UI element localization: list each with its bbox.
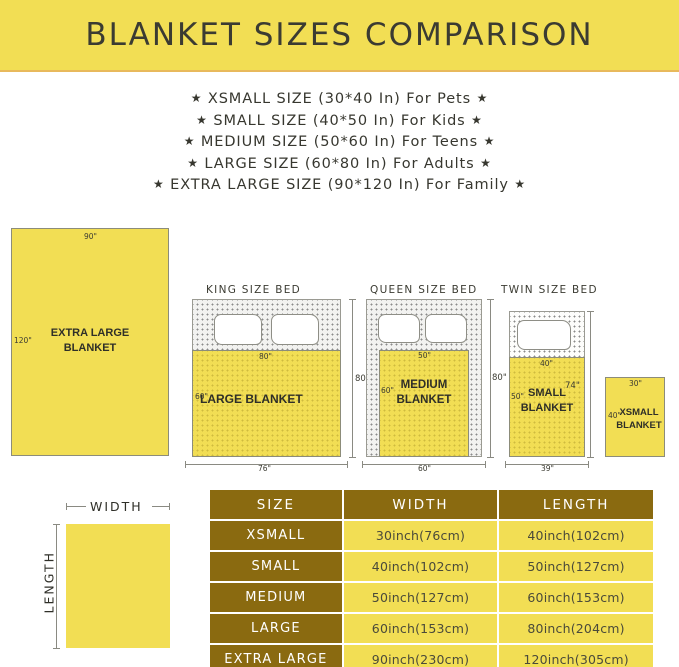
- twin-bed-width-dim: 39": [541, 464, 554, 473]
- star-icon: ★: [187, 156, 199, 170]
- xsmall-label-line1: XSMALL: [611, 406, 667, 419]
- queen-height-tick-top: [487, 299, 494, 300]
- infographic-root: BLANKET SIZES COMPARISON ★ XSMALL SIZE (…: [0, 0, 679, 667]
- queen-blanket-width-dim: 50": [418, 351, 431, 360]
- queen-bed-width-dim: 60": [418, 464, 431, 473]
- cell-length: 40inch(102cm): [499, 521, 653, 550]
- king-bed-title: KING SIZE BED: [206, 284, 301, 296]
- cell-width: 30inch(76cm): [344, 521, 497, 550]
- twin-height-tick-top: [587, 311, 594, 312]
- table-row: EXTRA LARGE 90inch(230cm) 120inch(305cm): [210, 645, 653, 667]
- queen-bed-height-dim: 80": [492, 373, 507, 383]
- bullet-item-xsmall: ★ XSMALL SIZE (30*40 In) For Pets ★: [191, 88, 489, 110]
- table-row: LARGE 60inch(153cm) 80inch(204cm): [210, 614, 653, 643]
- xsmall-width-dim: 30": [629, 379, 642, 388]
- king-height-tick-bottom: [349, 457, 356, 458]
- queen-label-line1: MEDIUM: [379, 378, 469, 393]
- bullet-text: MEDIUM SIZE (50*60 In) For Teens: [201, 134, 478, 150]
- legend-width-tick-left: [66, 503, 67, 510]
- extra-large-label-line1: EXTRA LARGE: [11, 326, 169, 341]
- cell-width: 40inch(102cm): [344, 552, 497, 581]
- bullet-item-large: ★ LARGE SIZE (60*80 In) For Adults ★: [187, 153, 492, 175]
- queen-blanket-label: MEDIUM BLANKET: [379, 378, 469, 408]
- cell-size: MEDIUM: [210, 583, 342, 612]
- column-header-size: SIZE: [210, 490, 342, 519]
- extra-large-label-line2: BLANKET: [11, 341, 169, 356]
- bullet-text: SMALL SIZE (40*50 In) For Kids: [213, 113, 465, 129]
- table-header-row: SIZE WIDTH LENGTH: [210, 490, 653, 519]
- queen-width-tick-left: [362, 461, 363, 468]
- twin-blanket-width-dim: 40": [540, 359, 553, 368]
- page-title: BLANKET SIZES COMPARISON: [85, 17, 593, 53]
- star-icon: ★: [484, 134, 496, 148]
- table-row: MEDIUM 50inch(127cm) 60inch(153cm): [210, 583, 653, 612]
- queen-height-tick-bottom: [487, 457, 494, 458]
- cell-width: 90inch(230cm): [344, 645, 497, 667]
- column-header-length: LENGTH: [499, 490, 653, 519]
- king-pillow-right: [271, 314, 319, 345]
- xsmall-label-line2: BLANKET: [611, 419, 667, 432]
- queen-bed-title: QUEEN SIZE BED: [370, 284, 477, 296]
- star-icon: ★: [196, 113, 208, 127]
- legend-length-tick-bottom: [53, 648, 60, 649]
- cell-width: 60inch(153cm): [344, 614, 497, 643]
- bullet-text: LARGE SIZE (60*80 In) For Adults: [204, 156, 474, 172]
- twin-height-tick-bottom: [587, 457, 594, 458]
- king-blanket-width-dim: 80": [259, 352, 272, 361]
- legend-width-label: WIDTH: [90, 499, 143, 514]
- column-header-width: WIDTH: [344, 490, 497, 519]
- table-row: XSMALL 30inch(76cm) 40inch(102cm): [210, 521, 653, 550]
- king-blanket-label: LARGE BLANKET: [200, 392, 345, 407]
- star-icon: ★: [191, 91, 203, 105]
- legend-length-label: LENGTH: [42, 558, 57, 614]
- star-icon: ★: [480, 156, 492, 170]
- queen-width-tick-right: [485, 461, 486, 468]
- legend-length-tick-top: [53, 524, 60, 525]
- bullet-item-medium: ★ MEDIUM SIZE (50*60 In) For Teens ★: [184, 131, 496, 153]
- twin-width-tick-left: [505, 461, 506, 468]
- bullet-item-small: ★ SMALL SIZE (40*50 In) For Kids ★: [196, 110, 483, 132]
- king-height-tick-top: [349, 299, 356, 300]
- legend-width-tick-right: [169, 503, 170, 510]
- queen-height-rule: [490, 299, 491, 457]
- cell-length: 60inch(153cm): [499, 583, 653, 612]
- twin-bed-title: TWIN SIZE BED: [501, 284, 598, 296]
- queen-pillow-left: [378, 314, 420, 343]
- header-banner: BLANKET SIZES COMPARISON: [0, 0, 679, 72]
- twin-height-rule: [590, 311, 591, 457]
- bullet-text: EXTRA LARGE SIZE (90*120 In) For Family: [170, 177, 509, 193]
- bullet-item-extra-large: ★ EXTRA LARGE SIZE (90*120 In) For Famil…: [153, 174, 526, 196]
- star-icon: ★: [184, 134, 196, 148]
- size-bullet-list: ★ XSMALL SIZE (30*40 In) For Pets ★ ★ SM…: [0, 88, 679, 196]
- king-width-tick-left: [185, 461, 186, 468]
- cell-size: EXTRA LARGE: [210, 645, 342, 667]
- twin-label-line2: BLANKET: [509, 401, 585, 416]
- table-row: SMALL 40inch(102cm) 50inch(127cm): [210, 552, 653, 581]
- cell-size: SMALL: [210, 552, 342, 581]
- queen-label-line2: BLANKET: [379, 393, 469, 408]
- king-pillow-left: [214, 314, 262, 345]
- cell-length: 120inch(305cm): [499, 645, 653, 667]
- size-comparison-table: SIZE WIDTH LENGTH XSMALL 30inch(76cm) 40…: [208, 488, 655, 667]
- star-icon: ★: [514, 177, 526, 191]
- twin-width-tick-right: [588, 461, 589, 468]
- cell-width: 50inch(127cm): [344, 583, 497, 612]
- cell-length: 80inch(204cm): [499, 614, 653, 643]
- star-icon: ★: [477, 91, 489, 105]
- cell-size: XSMALL: [210, 521, 342, 550]
- extra-large-blanket-label: EXTRA LARGE BLANKET: [11, 326, 169, 356]
- extra-large-width-dim: 90": [84, 232, 97, 241]
- king-width-tick-right: [347, 461, 348, 468]
- star-icon: ★: [471, 113, 483, 127]
- xsmall-blanket-label: XSMALL BLANKET: [611, 406, 667, 432]
- queen-pillow-right: [425, 314, 467, 343]
- king-height-rule: [352, 299, 353, 457]
- star-icon: ★: [153, 177, 165, 191]
- bullet-text: XSMALL SIZE (30*40 In) For Pets: [208, 91, 471, 107]
- cell-length: 50inch(127cm): [499, 552, 653, 581]
- legend-width-rule-right: [152, 506, 170, 507]
- legend-width-rule-left: [66, 506, 86, 507]
- cell-size: LARGE: [210, 614, 342, 643]
- twin-bed-height-dim: 74": [565, 381, 580, 391]
- twin-pillow: [517, 320, 571, 350]
- king-bed-width-dim: 76": [258, 464, 271, 473]
- legend-length-rule: [56, 524, 57, 648]
- legend-blanket-shape: [66, 524, 170, 648]
